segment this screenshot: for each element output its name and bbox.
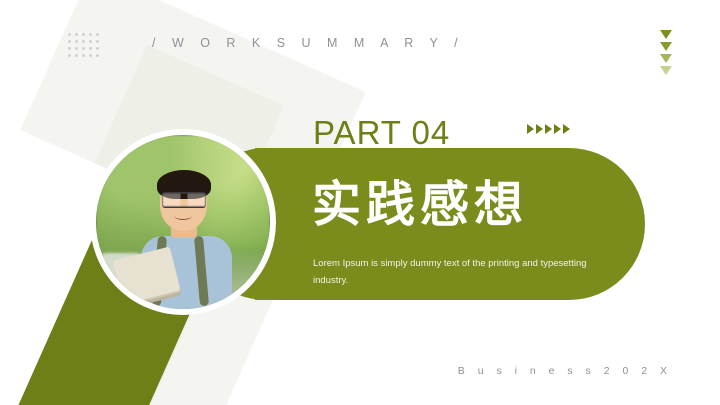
dot bbox=[96, 47, 99, 50]
dot bbox=[68, 47, 71, 50]
dot-grid-decoration bbox=[68, 33, 103, 61]
photo-ring-frame bbox=[90, 129, 276, 315]
triangle-down-icon bbox=[660, 30, 672, 39]
photo-subject-smile bbox=[174, 212, 191, 220]
headline-chinese: 实践感想 bbox=[312, 178, 528, 232]
triangle-down-icon bbox=[660, 66, 672, 75]
dot bbox=[75, 47, 78, 50]
dot bbox=[82, 40, 85, 43]
chevron-right-icon bbox=[545, 124, 552, 134]
dot bbox=[75, 54, 78, 57]
triangle-down-icon bbox=[660, 54, 672, 63]
dot bbox=[96, 40, 99, 43]
chevron-right-icon bbox=[536, 124, 543, 134]
triangle-stack-decoration bbox=[660, 30, 672, 75]
dot bbox=[68, 40, 71, 43]
dot bbox=[89, 33, 92, 36]
dot bbox=[68, 54, 71, 57]
header-title: / W O R K S U M M A R Y / bbox=[152, 36, 464, 50]
dot bbox=[82, 33, 85, 36]
dot bbox=[82, 54, 85, 57]
dot bbox=[89, 40, 92, 43]
dot bbox=[68, 33, 71, 36]
page-title: PART 04 bbox=[313, 116, 450, 149]
chevron-right-icon bbox=[527, 124, 534, 134]
student-portrait-photo bbox=[96, 135, 270, 309]
dot bbox=[96, 33, 99, 36]
slide-root: / W O R K S U M M A R Y / PART 04 实践感想 L… bbox=[0, 0, 720, 405]
subtitle-text: Lorem Ipsum is simply dummy text of the … bbox=[313, 256, 613, 289]
dot bbox=[75, 40, 78, 43]
triangle-down-icon bbox=[660, 42, 672, 51]
chevron-group-decoration bbox=[527, 124, 570, 134]
footer-text: B u s i n e s s 2 0 2 X bbox=[458, 365, 672, 377]
chevron-right-icon bbox=[563, 124, 570, 134]
dot bbox=[82, 47, 85, 50]
dot bbox=[96, 54, 99, 57]
dot bbox=[89, 54, 92, 57]
glasses-icon bbox=[162, 192, 206, 208]
dot bbox=[89, 47, 92, 50]
chevron-right-icon bbox=[554, 124, 561, 134]
dot bbox=[75, 33, 78, 36]
